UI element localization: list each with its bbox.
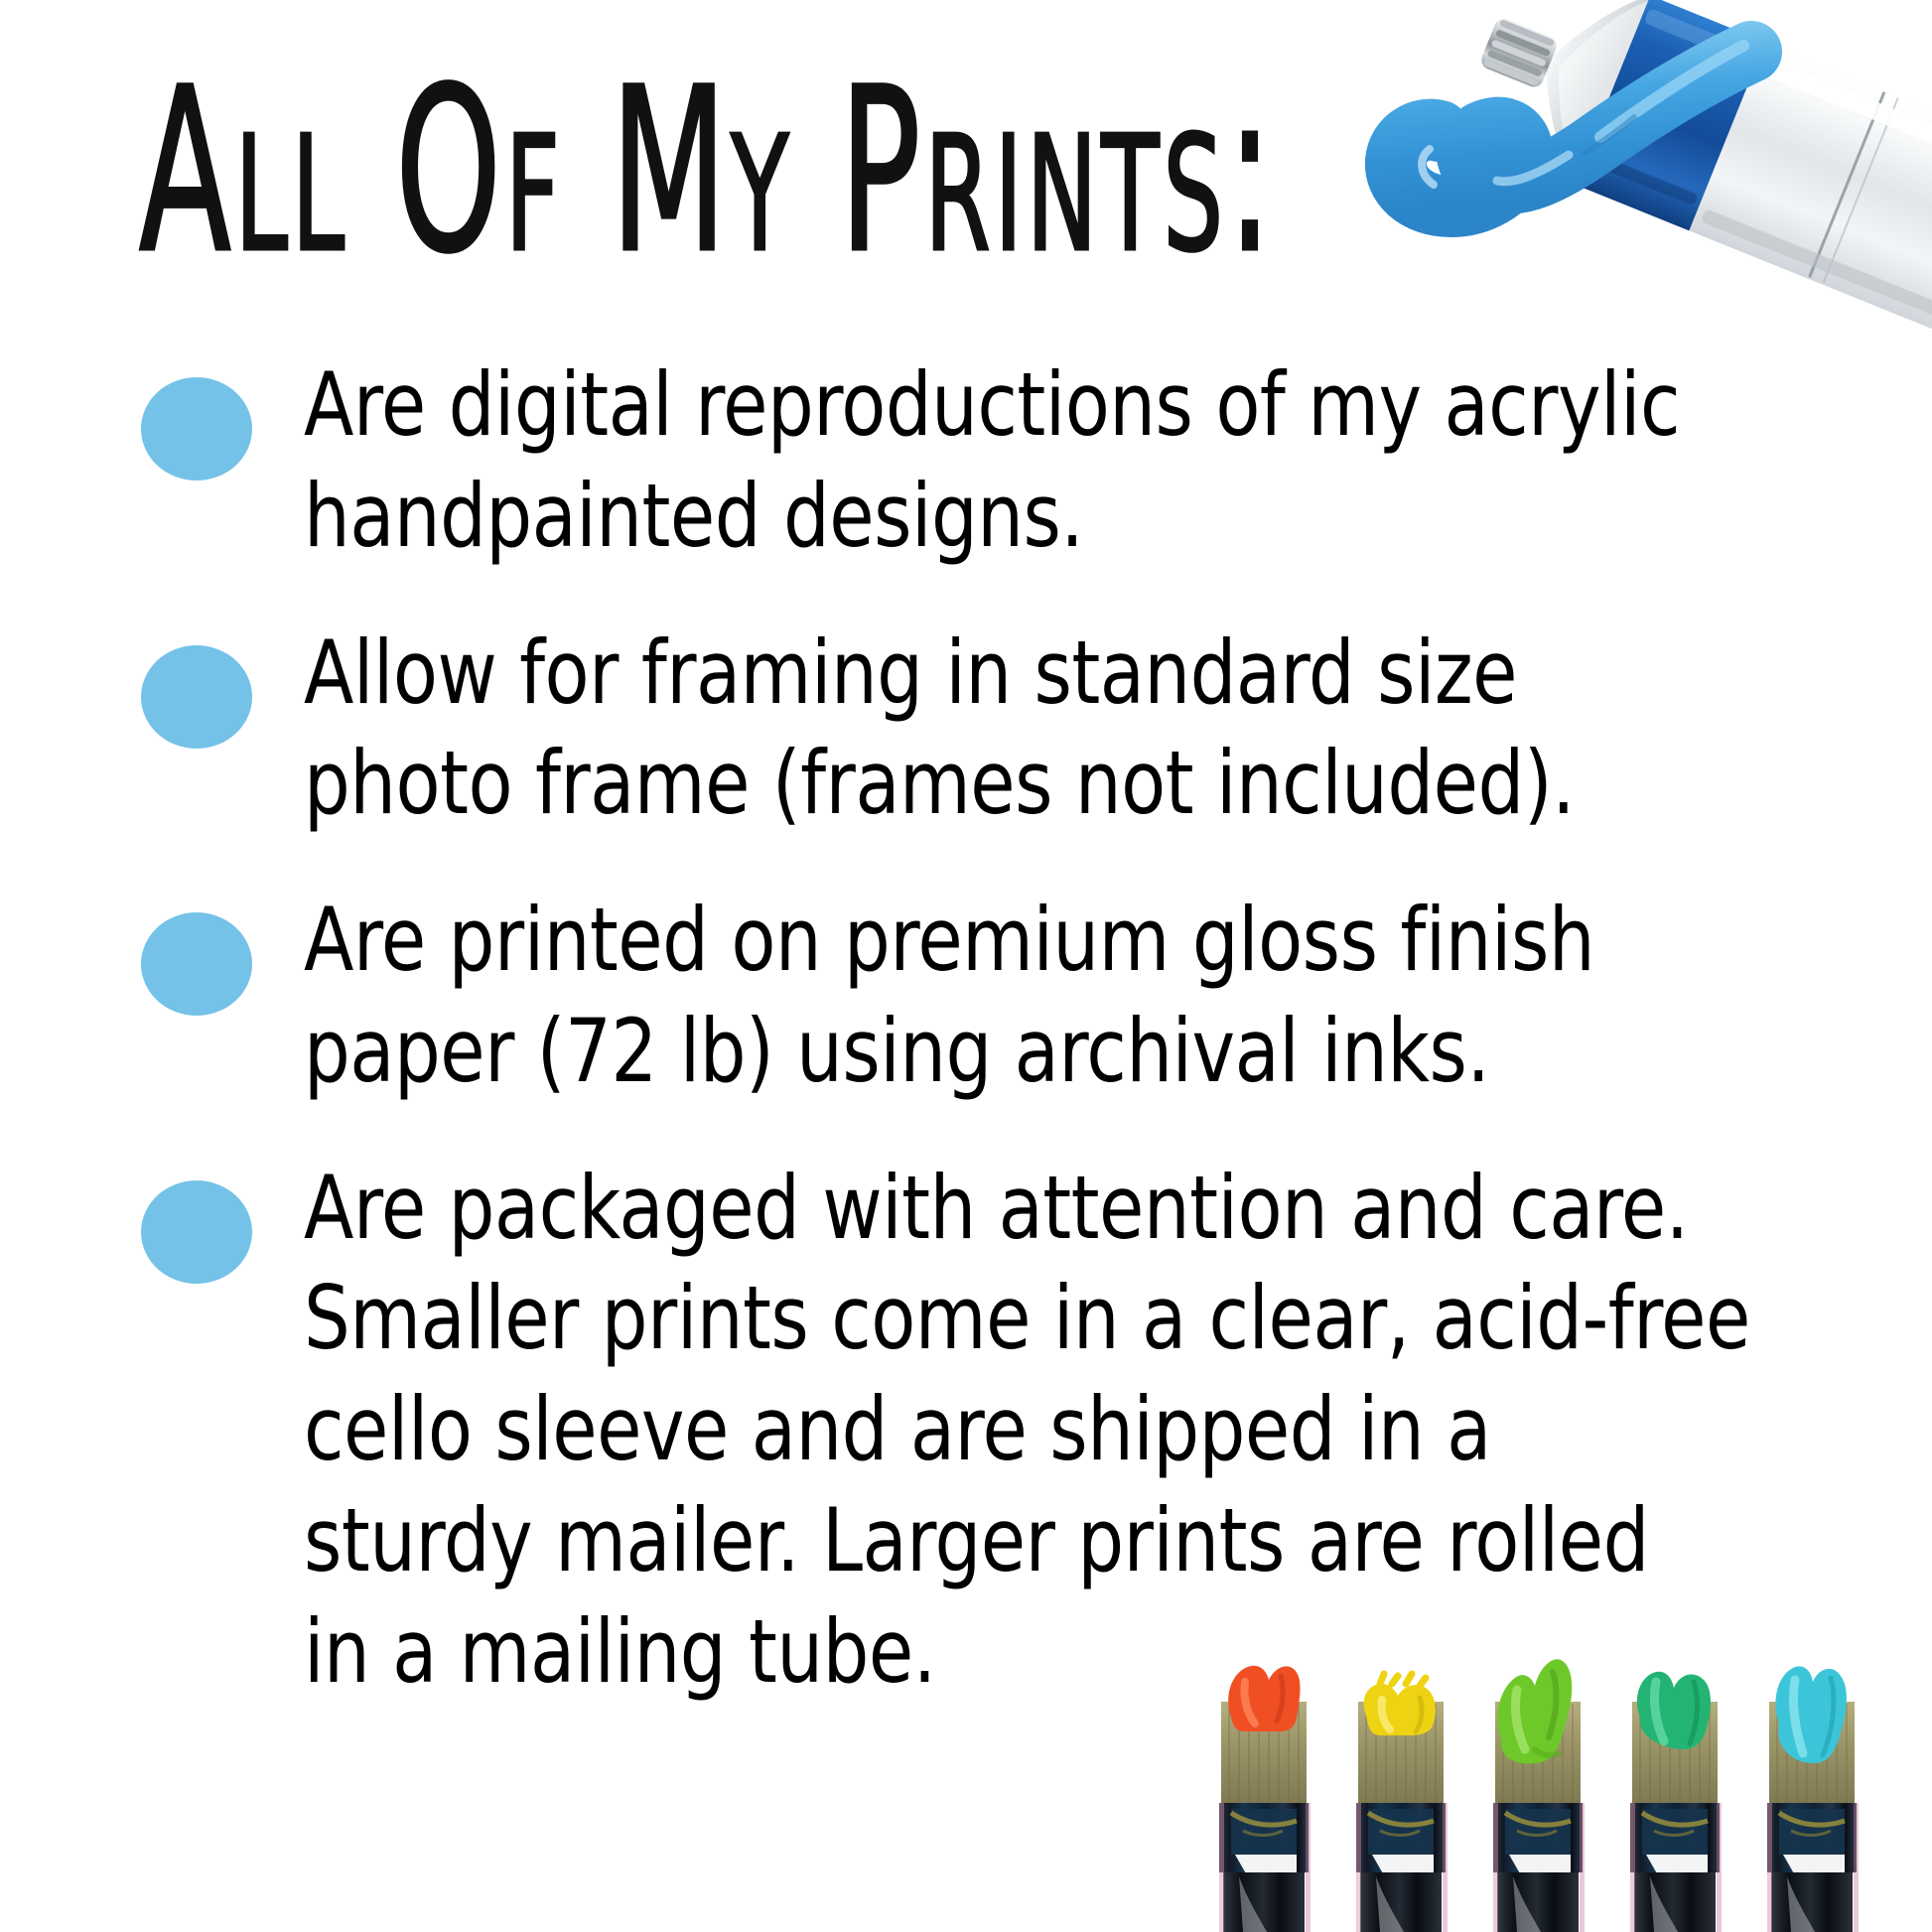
list-item: Are packaged with attention and care. Sm… (0, 1153, 1932, 1708)
bullet-dot-icon (141, 912, 252, 1016)
tube-seam-line (1810, 92, 1884, 277)
list-item-text: Are printed on premium gloss finish pape… (304, 885, 1818, 1107)
list-item: Are digital reproductions of my acrylic … (0, 349, 1932, 572)
bullet-dot-icon (141, 377, 252, 481)
poster-canvas: All Of My Prints: (0, 0, 1932, 1932)
paint-shade-1 (1585, 117, 1634, 153)
paint-highlight-1 (1600, 46, 1743, 137)
list-item-text: Are packaged with attention and care. Sm… (304, 1153, 1818, 1708)
tube-body (1565, 0, 1932, 337)
features-list: Are digital reproductions of my acrylic … (0, 349, 1932, 1752)
page-title: All Of My Prints: (139, 58, 1277, 284)
tube-seam-line-2 (1824, 97, 1898, 282)
tube-band-shadow (1587, 152, 1698, 207)
squeezed-paint-squiggle (1396, 46, 1751, 207)
list-item: Are printed on premium gloss finish pape… (0, 885, 1932, 1107)
tube-shoulder (1508, 0, 1651, 184)
paint-highlight-3 (1422, 149, 1434, 185)
tube-blue-band (1574, 0, 1765, 230)
tube-body-group (1450, 0, 1932, 337)
bullet-dot-icon (141, 1180, 252, 1284)
list-item-text: Allow for framing in standard size photo… (304, 618, 1818, 840)
paint-tube-illustration (1285, 0, 1932, 357)
bullet-dot-icon (141, 645, 252, 749)
tube-body-gloss (1760, 58, 1932, 176)
tube-body-shadow (1701, 208, 1932, 323)
list-item: Allow for framing in standard size photo… (0, 618, 1932, 840)
paint-tube-svg (1285, 0, 1932, 357)
tube-shoulder-gloss (1523, 0, 1648, 178)
tube-band-gloss (1643, 8, 1756, 66)
tube-nozzle-threads (1478, 16, 1559, 90)
paint-highlight-2 (1497, 155, 1569, 182)
paint-stroke (1396, 52, 1751, 207)
list-item-text: Are digital reproductions of my acrylic … (304, 349, 1818, 572)
